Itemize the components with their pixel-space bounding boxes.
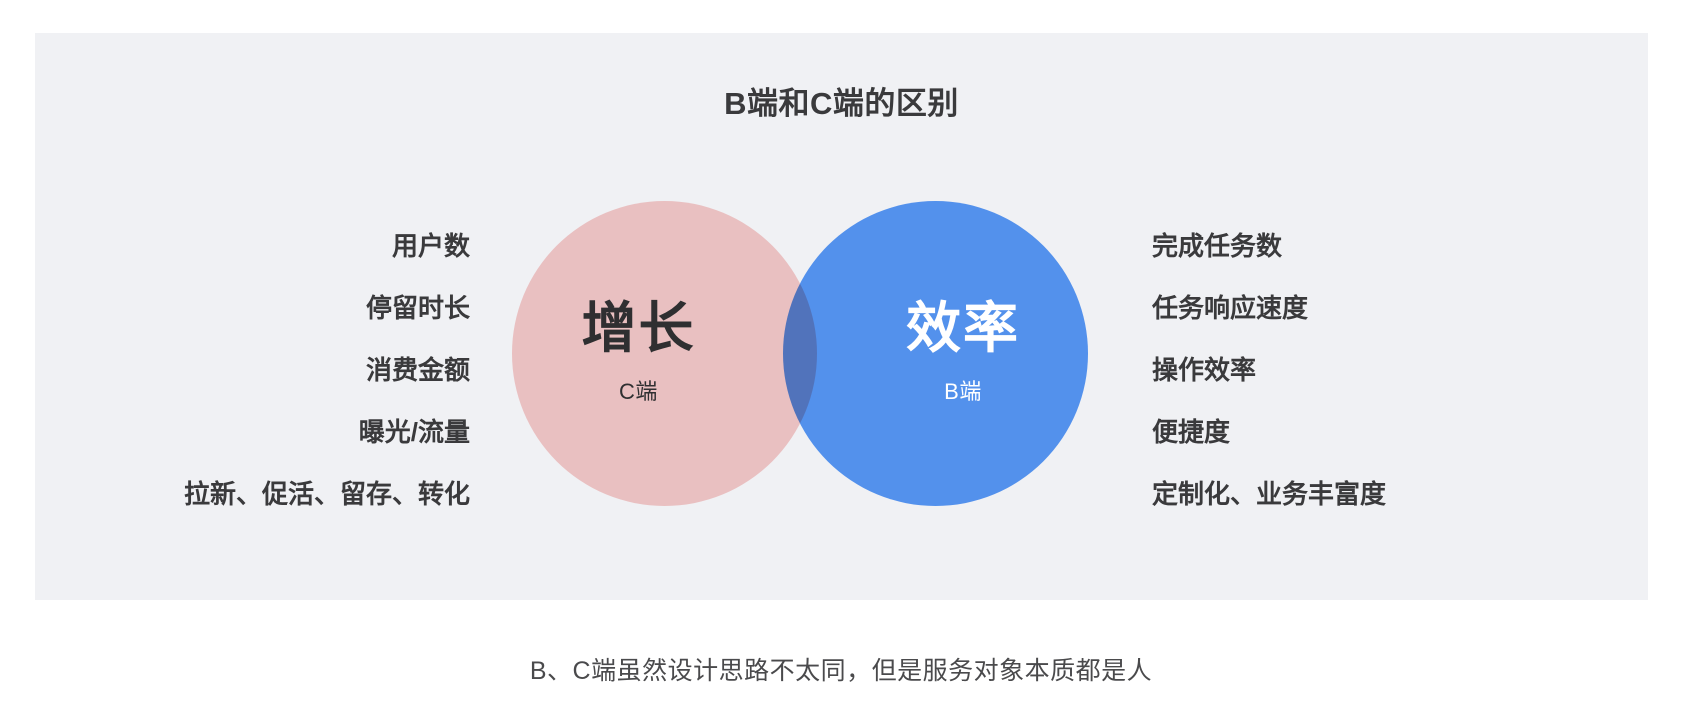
left-label-item: 停留时长	[70, 295, 470, 321]
venn-diagram: 增长 C端 效率 B端	[512, 201, 1126, 531]
venn-circle-c-end	[512, 201, 817, 506]
figure-caption: B、C端虽然设计思路不太同，但是服务对象本质都是人	[0, 651, 1682, 687]
right-label-item: 操作效率	[1152, 357, 1612, 383]
left-label-column: 用户数 停留时长 消费金额 曝光/流量 拉新、促活、留存、转化	[70, 233, 470, 507]
page-title: B端和C端的区别	[35, 78, 1648, 123]
left-label-item: 拉新、促活、留存、转化	[70, 481, 470, 507]
venn-circle-b-end	[783, 201, 1088, 506]
right-label-item: 定制化、业务丰富度	[1152, 481, 1612, 507]
right-label-column: 完成任务数 任务响应速度 操作效率 便捷度 定制化、业务丰富度	[1152, 233, 1612, 507]
left-label-item: 消费金额	[70, 357, 470, 383]
right-label-item: 便捷度	[1152, 419, 1612, 445]
left-label-item: 用户数	[70, 233, 470, 259]
infographic-root: B端和C端的区别 用户数 停留时长 消费金额 曝光/流量 拉新、促活、留存、转化…	[0, 0, 1682, 714]
diagram-panel: B端和C端的区别 用户数 停留时长 消费金额 曝光/流量 拉新、促活、留存、转化…	[35, 33, 1648, 600]
right-label-item: 完成任务数	[1152, 233, 1612, 259]
right-label-item: 任务响应速度	[1152, 295, 1612, 321]
left-label-item: 曝光/流量	[70, 419, 470, 445]
